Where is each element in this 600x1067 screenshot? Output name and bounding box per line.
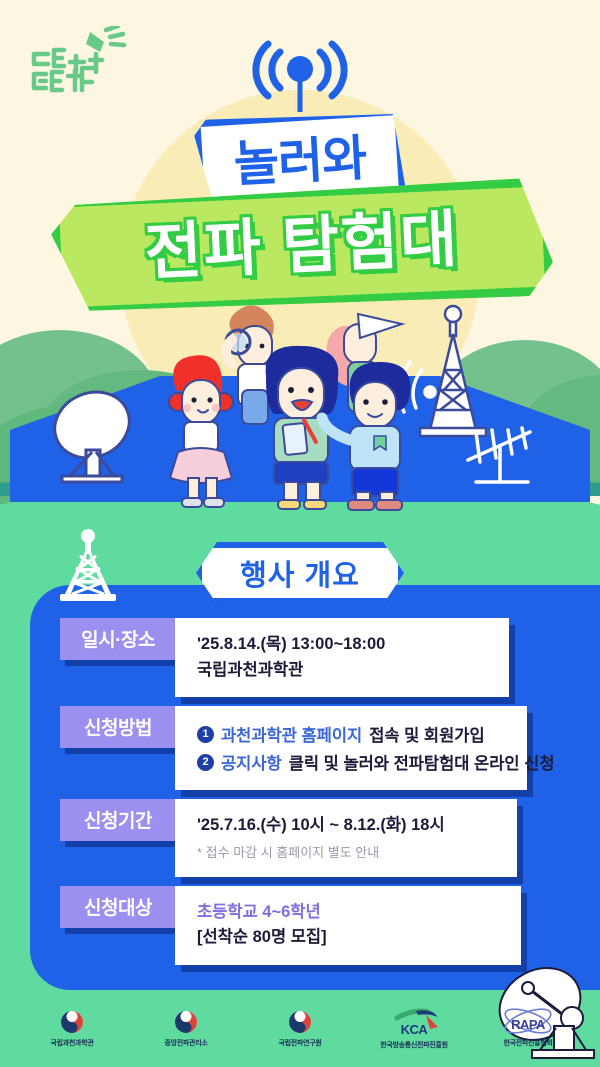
step-rest: 접속 및 회원가입	[369, 722, 484, 746]
row-line: '25.7.16.(수) 10시 ~ 8.12.(화) 18시	[197, 813, 499, 839]
taegeuk-icon	[60, 1009, 84, 1035]
step-number-badge: 1	[197, 726, 214, 743]
row-label-wrap: 신청기간	[60, 799, 176, 841]
row-label: 신청대상	[60, 886, 176, 928]
row-card-wrap: '25.8.14.(목) 13:00~18:00 국립과천과학관	[175, 618, 509, 697]
partner-caption: 국립과천과학관	[51, 1038, 94, 1048]
row-card: 초등학교 4~6학년 [선착순 80명 모집]	[175, 886, 521, 965]
row-card: '25.8.14.(목) 13:00~18:00 국립과천과학관	[175, 618, 509, 697]
row-label: 일시·장소	[60, 618, 176, 660]
kca-word: KCA	[401, 1022, 428, 1037]
info-row-apply-method: 신청방법 1 과천과학관 홈페이지 접속 및 회원가입 2 공지사항 클릭 및 …	[0, 706, 600, 790]
row-label: 신청기간	[60, 799, 176, 841]
taegeuk-icon	[288, 1009, 312, 1035]
row-card: '25.7.16.(수) 10시 ~ 8.12.(화) 18시 * 접수 마감 …	[175, 799, 517, 877]
taegeuk-icon	[174, 1009, 198, 1035]
row-card-wrap: 초등학교 4~6학년 [선착순 80명 모집]	[175, 886, 521, 965]
row-card-wrap: '25.7.16.(수) 10시 ~ 8.12.(화) 18시 * 접수 마감 …	[175, 799, 517, 877]
row-card: 1 과천과학관 홈페이지 접속 및 회원가입 2 공지사항 클릭 및 놀러와 전…	[175, 706, 527, 790]
title-main-text: 전파 탐험대	[144, 209, 461, 285]
row-label-wrap: 신청방법	[60, 706, 176, 748]
row-line: 국립과천과학관	[197, 658, 491, 684]
numbered-step: 2 공지사항 클릭 및 놀러와 전파탐험대 온라인 신청	[197, 750, 509, 774]
section-heading-banner: 행사 개요	[196, 542, 404, 604]
partner-caption: 국립전파연구원	[279, 1038, 322, 1048]
numbered-step: 1 과천과학관 홈페이지 접속 및 회원가입	[197, 722, 509, 746]
partner-caption: 한국방송통신전파진흥원	[380, 1040, 448, 1050]
partner-logo: 중앙전파관리소	[144, 1009, 228, 1048]
partner-logo: 국립전파연구원	[258, 1009, 342, 1048]
row-card-wrap: 1 과천과학관 홈페이지 접속 및 회원가입 2 공지사항 클릭 및 놀러와 전…	[175, 706, 527, 790]
partner-logo: KCA 한국방송통신전파진흥원	[372, 1007, 456, 1050]
info-row-apply-period: 신청기간 '25.7.16.(수) 10시 ~ 8.12.(화) 18시 * 접…	[0, 799, 600, 877]
row-label-wrap: 일시·장소	[60, 618, 176, 660]
children-illustration	[0, 290, 600, 520]
step-highlight: 공지사항	[221, 750, 282, 774]
row-line: [선착순 80명 모집]	[197, 925, 503, 951]
step-number-badge: 2	[197, 754, 214, 771]
row-line: 초등학교 4~6학년	[197, 900, 503, 926]
poster-root: 국립과천과학관 놀러와 전파 탐험대	[0, 0, 600, 1067]
partner-caption: 중앙전파관리소	[165, 1038, 208, 1048]
brand-logo: 국립과천과학관	[26, 26, 156, 98]
radio-tower-icon	[44, 528, 132, 608]
title-top-text: 놀러와	[233, 134, 368, 190]
row-label: 신청방법	[60, 706, 176, 748]
partner-caption: 한국전파진흥협회	[503, 1038, 552, 1048]
row-label-wrap: 신청대상	[60, 886, 176, 928]
info-row-datetime-place: 일시·장소 '25.8.14.(목) 13:00~18:00 국립과천과학관	[0, 618, 600, 697]
row-note: * 접수 마감 시 홈페이지 별도 안내	[197, 843, 499, 863]
step-highlight: 과천과학관 홈페이지	[221, 722, 362, 746]
info-row-target: 신청대상 초등학교 4~6학년 [선착순 80명 모집]	[0, 886, 600, 965]
section-heading-text: 행사 개요	[240, 552, 360, 594]
partner-logo: RAPA 한국전파진흥협회	[486, 1008, 570, 1048]
footer-partner-logos: 국립과천과학관 중앙전파관리소 국립전파연구원	[0, 989, 600, 1067]
partner-logo: 국립과천과학관	[30, 1009, 114, 1048]
step-rest: 클릭 및 놀러와 전파탐험대 온라인 신청	[289, 750, 555, 774]
broadcast-antenna-icon	[252, 36, 348, 114]
info-rows: 일시·장소 '25.8.14.(목) 13:00~18:00 국립과천과학관 신…	[0, 618, 600, 974]
row-line: '25.8.14.(목) 13:00~18:00	[197, 632, 491, 658]
rapa-word: RAPA	[511, 1017, 545, 1032]
